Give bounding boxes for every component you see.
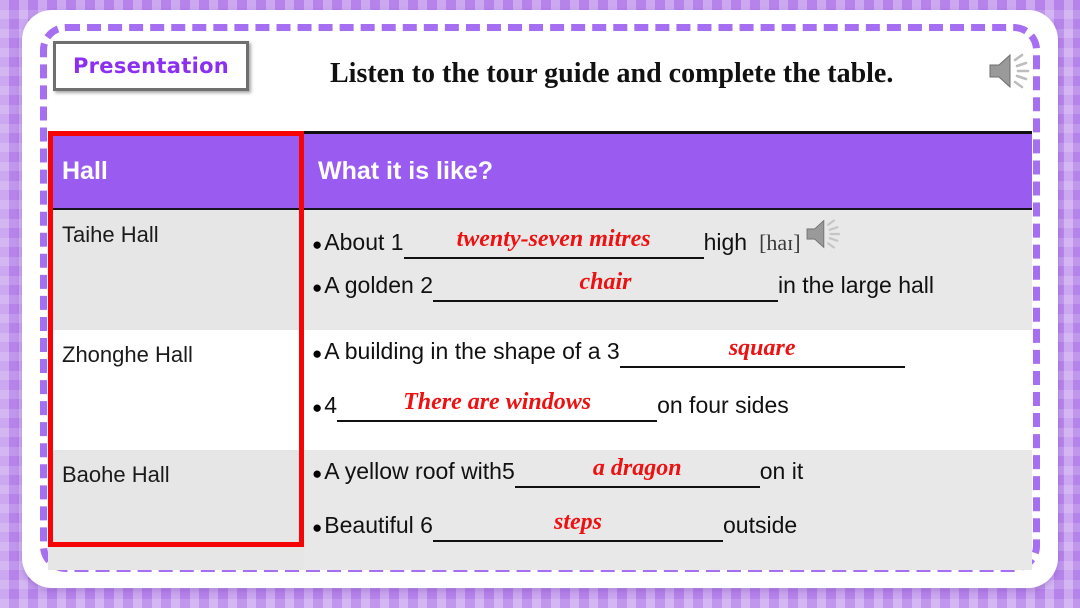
line-prefix: 4 (324, 392, 337, 419)
table-header-row: Hall What it is like? (48, 134, 1032, 210)
line-prefix: A golden 2 (324, 272, 433, 299)
section-tag-presentation[interactable]: Presentation (53, 41, 249, 91)
blank-field-1[interactable]: twenty-seven mitres (404, 229, 704, 259)
answer-line: ● About 1 twenty-seven mitres high [haɪ] (312, 218, 1032, 272)
blank-field-6[interactable]: steps (433, 512, 723, 542)
hall-name: Baohe Hall (48, 450, 304, 570)
hall-description: ● A building in the shape of a 3 square … (304, 330, 1032, 450)
line-prefix: Beautiful 6 (324, 512, 433, 539)
blank-field-3[interactable]: square (620, 338, 905, 368)
bullet-icon: ● (312, 399, 322, 416)
table-row: Taihe Hall ● About 1 twenty-seven mitres… (48, 210, 1032, 330)
bullet-icon: ● (312, 465, 322, 482)
answer-text: steps (554, 509, 602, 535)
answer-line: ● Beautiful 6 steps outside (312, 512, 1032, 566)
line-suffix: in the large hall (778, 272, 934, 299)
section-tag-label: Presentation (73, 54, 229, 78)
line-suffix: on four sides (657, 392, 789, 419)
line-suffix: on it (760, 458, 803, 485)
answer-line: ● A golden 2 chair in the large hall (312, 272, 1032, 326)
answer-text: square (729, 335, 796, 361)
line-prefix: A building in the shape of a 3 (324, 338, 619, 365)
bullet-icon: ● (312, 345, 322, 362)
page-title: Listen to the tour guide and complete th… (330, 58, 970, 90)
blank-field-2[interactable]: chair (433, 272, 778, 302)
slide-stage: Presentation Listen to the tour guide an… (0, 0, 1080, 608)
phonetic-transcription: [haɪ] (759, 230, 801, 256)
answer-text: twenty-seven mitres (457, 226, 651, 252)
answer-text: There are windows (403, 389, 591, 415)
bullet-icon: ● (312, 519, 322, 536)
column-header-description: What it is like? (304, 134, 1032, 210)
answer-text: chair (579, 269, 631, 295)
hall-name: Zhonghe Hall (48, 330, 304, 450)
speaker-icon[interactable] (986, 52, 1032, 90)
blank-field-4[interactable]: There are windows (337, 392, 657, 422)
answer-text: a dragon (593, 455, 682, 481)
bullet-icon: ● (312, 279, 322, 296)
line-suffix: outside (723, 512, 797, 539)
column-header-hall: Hall (48, 134, 304, 210)
table-row: Zhonghe Hall ● A building in the shape o… (48, 330, 1032, 450)
line-prefix: About 1 (324, 229, 403, 256)
line-suffix: high (704, 229, 747, 256)
hall-description: ● A yellow roof with5 a dragon on it ● B… (304, 450, 1032, 570)
hall-description: ● About 1 twenty-seven mitres high [haɪ] (304, 210, 1032, 330)
answer-line: ● A yellow roof with5 a dragon on it (312, 458, 1032, 512)
table-row: Baohe Hall ● A yellow roof with5 a drago… (48, 450, 1032, 570)
answer-line: ● A building in the shape of a 3 square (312, 338, 1032, 392)
hall-name: Taihe Hall (48, 210, 304, 330)
answer-line: ● 4 There are windows on four sides (312, 392, 1032, 446)
speaker-icon[interactable] (803, 218, 843, 250)
bullet-icon: ● (312, 236, 322, 253)
answers-table: Hall What it is like? Taihe Hall ● About… (48, 131, 1032, 568)
blank-field-5[interactable]: a dragon (515, 458, 760, 488)
line-prefix: A yellow roof with5 (324, 458, 514, 485)
